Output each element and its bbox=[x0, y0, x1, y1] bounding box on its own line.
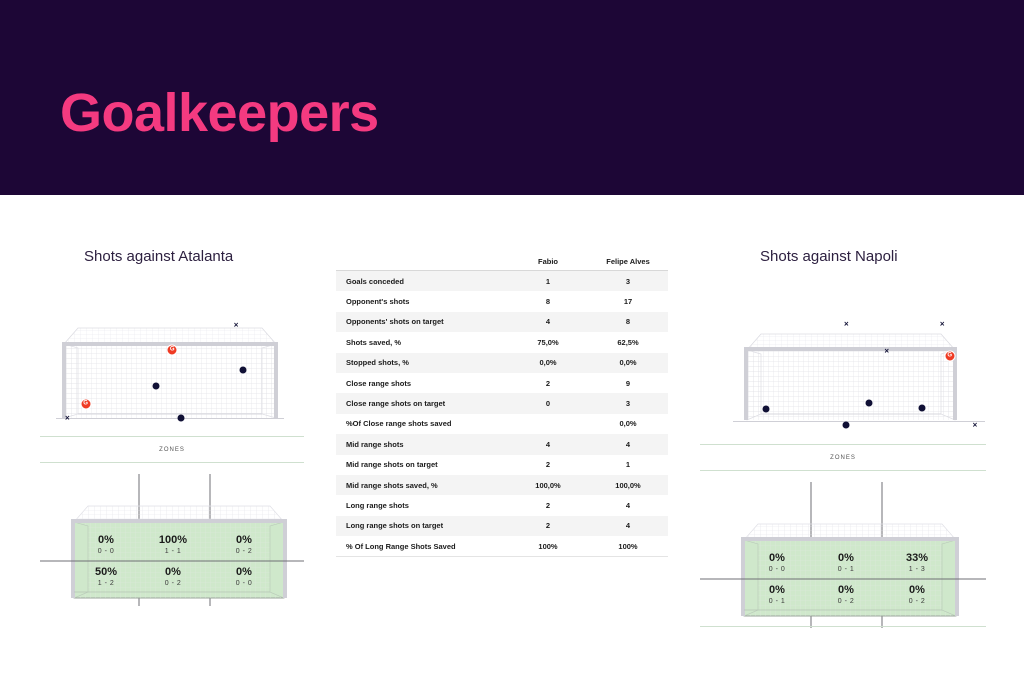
stat-value-fabio: 8 bbox=[508, 291, 588, 311]
shot-marker-saved-bottom-centre bbox=[843, 421, 850, 428]
zone-fraction-r1-c2: 0 - 2 bbox=[882, 598, 952, 605]
stat-value-felipe-alves: 100% bbox=[588, 536, 668, 557]
stats-table-header-row: Fabio Felipe Alves bbox=[336, 252, 668, 271]
zone-fraction-r0-c2: 0 - 2 bbox=[210, 548, 278, 555]
stat-label: Mid range shots bbox=[336, 434, 508, 454]
stat-value-felipe-alves: 3 bbox=[588, 393, 668, 413]
stat-value-felipe-alves: 62,5% bbox=[588, 332, 668, 352]
shot-map-napoli: ×××G× bbox=[733, 316, 985, 428]
shot-marker-saved-right bbox=[239, 367, 246, 374]
shot-marker-saved-centre bbox=[153, 382, 160, 389]
stat-value-felipe-alves: 4 bbox=[588, 434, 668, 454]
zone-fraction-r0-c1: 1 - 1 bbox=[139, 548, 207, 555]
table-row: % Of Long Range Shots Saved100%100% bbox=[336, 536, 668, 557]
stat-label: Long range shots on target bbox=[336, 516, 508, 536]
zone-percent-r1-c2: 0% bbox=[882, 584, 952, 596]
stat-value-fabio: 100% bbox=[508, 536, 588, 557]
stat-value-felipe-alves: 0,0% bbox=[588, 414, 668, 434]
table-row: Mid range shots44 bbox=[336, 434, 668, 454]
stat-value-fabio: 2 bbox=[508, 455, 588, 475]
table-row: %Of Close range shots saved0,0% bbox=[336, 414, 668, 434]
zone-percent-r0-c1: 100% bbox=[139, 534, 207, 546]
zone-percent-r1-c1: 0% bbox=[811, 584, 881, 596]
stat-value-fabio: 100,0% bbox=[508, 475, 588, 495]
zone-fraction-r0-c1: 0 - 1 bbox=[811, 566, 881, 573]
table-row: Mid range shots on target21 bbox=[336, 455, 668, 475]
table-row: Long range shots24 bbox=[336, 495, 668, 515]
zone-percent-r0-c0: 0% bbox=[742, 552, 812, 564]
table-row: Shots saved, %75,0%62,5% bbox=[336, 332, 668, 352]
zones-label-left: ZONES bbox=[40, 447, 304, 453]
stat-label: %Of Close range shots saved bbox=[336, 414, 508, 434]
shot-marker-goal-upper-centre: G bbox=[167, 345, 178, 356]
stat-value-felipe-alves: 0,0% bbox=[588, 353, 668, 373]
stat-value-fabio: 0 bbox=[508, 393, 588, 413]
stat-label: Close range shots bbox=[336, 373, 508, 393]
stat-value-felipe-alves: 17 bbox=[588, 291, 668, 311]
zones-label-right: ZONES bbox=[700, 455, 986, 461]
zone-fraction-r1-c0: 1 - 2 bbox=[72, 580, 140, 587]
stat-value-felipe-alves: 9 bbox=[588, 373, 668, 393]
stat-value-fabio: 4 bbox=[508, 434, 588, 454]
stats-table-head: Fabio Felipe Alves bbox=[336, 252, 668, 271]
zone-fraction-r1-c1: 0 - 2 bbox=[139, 580, 207, 587]
shot-marker-goal-upper-right: G bbox=[944, 351, 955, 362]
zone-percent-r0-c0: 0% bbox=[72, 534, 140, 546]
col-header-metric bbox=[336, 252, 508, 271]
panel-heading-left: Shots against Atalanta bbox=[84, 248, 233, 265]
shot-marker-saved-left bbox=[762, 405, 769, 412]
zones-rule-top bbox=[700, 444, 986, 445]
zones-section-atalanta: ZONES 0%0 - 0100%1 - 10%0 - 250%1 - 20%0… bbox=[40, 436, 304, 606]
stat-value-fabio: 4 bbox=[508, 312, 588, 332]
col-header-fabio: Fabio bbox=[508, 252, 588, 271]
stat-value-felipe-alves: 1 bbox=[588, 455, 668, 475]
stat-value-felipe-alves: 100,0% bbox=[588, 475, 668, 495]
shot-marker-off-target-bottom-right: × bbox=[971, 421, 978, 428]
zones-rule-bottom bbox=[700, 626, 986, 627]
shot-marker-saved-bottom-centre bbox=[178, 414, 185, 421]
zone-percent-r0-c1: 0% bbox=[811, 552, 881, 564]
table-row: Close range shots on target03 bbox=[336, 393, 668, 413]
table-row: Close range shots29 bbox=[336, 373, 668, 393]
stat-value-felipe-alves: 3 bbox=[588, 271, 668, 292]
stat-value-fabio bbox=[508, 414, 588, 434]
stat-label: Stopped shots, % bbox=[336, 353, 508, 373]
zone-fraction-r0-c0: 0 - 0 bbox=[742, 566, 812, 573]
page-title: Goalkeepers bbox=[60, 86, 379, 140]
stat-label: Mid range shots saved, % bbox=[336, 475, 508, 495]
table-row: Opponents' shots on target48 bbox=[336, 312, 668, 332]
stat-value-fabio: 2 bbox=[508, 495, 588, 515]
stat-value-felipe-alves: 4 bbox=[588, 516, 668, 536]
stat-label: Shots saved, % bbox=[336, 332, 508, 352]
zone-fraction-r1-c2: 0 - 0 bbox=[210, 580, 278, 587]
zone-percent-r1-c0: 50% bbox=[72, 566, 140, 578]
zone-percent-r0-c2: 0% bbox=[210, 534, 278, 546]
panel-heading-right: Shots against Napoli bbox=[760, 248, 898, 265]
zone-percent-r0-c2: 33% bbox=[882, 552, 952, 564]
stat-label: Opponents' shots on target bbox=[336, 312, 508, 332]
shot-marker-off-target-top-centre: × bbox=[843, 320, 850, 327]
goalkeeper-stats-table: Fabio Felipe Alves Goals conceded13Oppon… bbox=[336, 252, 668, 557]
col-header-felipe-alves: Felipe Alves bbox=[588, 252, 668, 271]
table-row: Goals conceded13 bbox=[336, 271, 668, 292]
stat-value-fabio: 1 bbox=[508, 271, 588, 292]
stat-value-fabio: 2 bbox=[508, 373, 588, 393]
stat-value-felipe-alves: 8 bbox=[588, 312, 668, 332]
stat-label: Long range shots bbox=[336, 495, 508, 515]
zone-fraction-r1-c1: 0 - 2 bbox=[811, 598, 881, 605]
stat-value-felipe-alves: 4 bbox=[588, 495, 668, 515]
stat-label: Goals conceded bbox=[336, 271, 508, 292]
zone-fraction-r0-c2: 1 - 3 bbox=[882, 566, 952, 573]
shot-marker-off-target-crossbar: × bbox=[883, 347, 890, 354]
table-row: Long range shots on target24 bbox=[336, 516, 668, 536]
stat-label: Opponent's shots bbox=[336, 291, 508, 311]
shot-marker-saved-centre bbox=[866, 400, 873, 407]
zone-percent-r1-c0: 0% bbox=[742, 584, 812, 596]
table-row: Mid range shots saved, %100,0%100,0% bbox=[336, 475, 668, 495]
shot-marker-off-target-bottom-left: × bbox=[64, 414, 71, 421]
goal-frame-svg bbox=[733, 316, 985, 428]
stats-table-body: Goals conceded13Opponent's shots817Oppon… bbox=[336, 271, 668, 557]
stat-label: % Of Long Range Shots Saved bbox=[336, 536, 508, 557]
shot-marker-off-target-top-right: × bbox=[233, 322, 240, 329]
zone-percent-r1-c2: 0% bbox=[210, 566, 278, 578]
stat-label: Mid range shots on target bbox=[336, 455, 508, 475]
shot-marker-off-target-top-right: × bbox=[939, 320, 946, 327]
stat-label: Close range shots on target bbox=[336, 393, 508, 413]
shot-map-atalanta: ×GG× bbox=[56, 318, 284, 422]
zones-rule-top bbox=[40, 436, 304, 437]
stat-value-fabio: 75,0% bbox=[508, 332, 588, 352]
table-row: Opponent's shots817 bbox=[336, 291, 668, 311]
stat-value-fabio: 0,0% bbox=[508, 353, 588, 373]
zone-fraction-r1-c0: 0 - 1 bbox=[742, 598, 812, 605]
zone-percent-r1-c1: 0% bbox=[139, 566, 207, 578]
table-row: Stopped shots, %0,0%0,0% bbox=[336, 353, 668, 373]
zone-fraction-r0-c0: 0 - 0 bbox=[72, 548, 140, 555]
shot-marker-goal-lower-left: G bbox=[80, 399, 91, 410]
zones-section-napoli: ZONES 0%0 - 00%0 - 133%1 - 30%0 - 10%0 -… bbox=[700, 444, 986, 628]
shot-marker-saved-right bbox=[919, 404, 926, 411]
stat-value-fabio: 2 bbox=[508, 516, 588, 536]
